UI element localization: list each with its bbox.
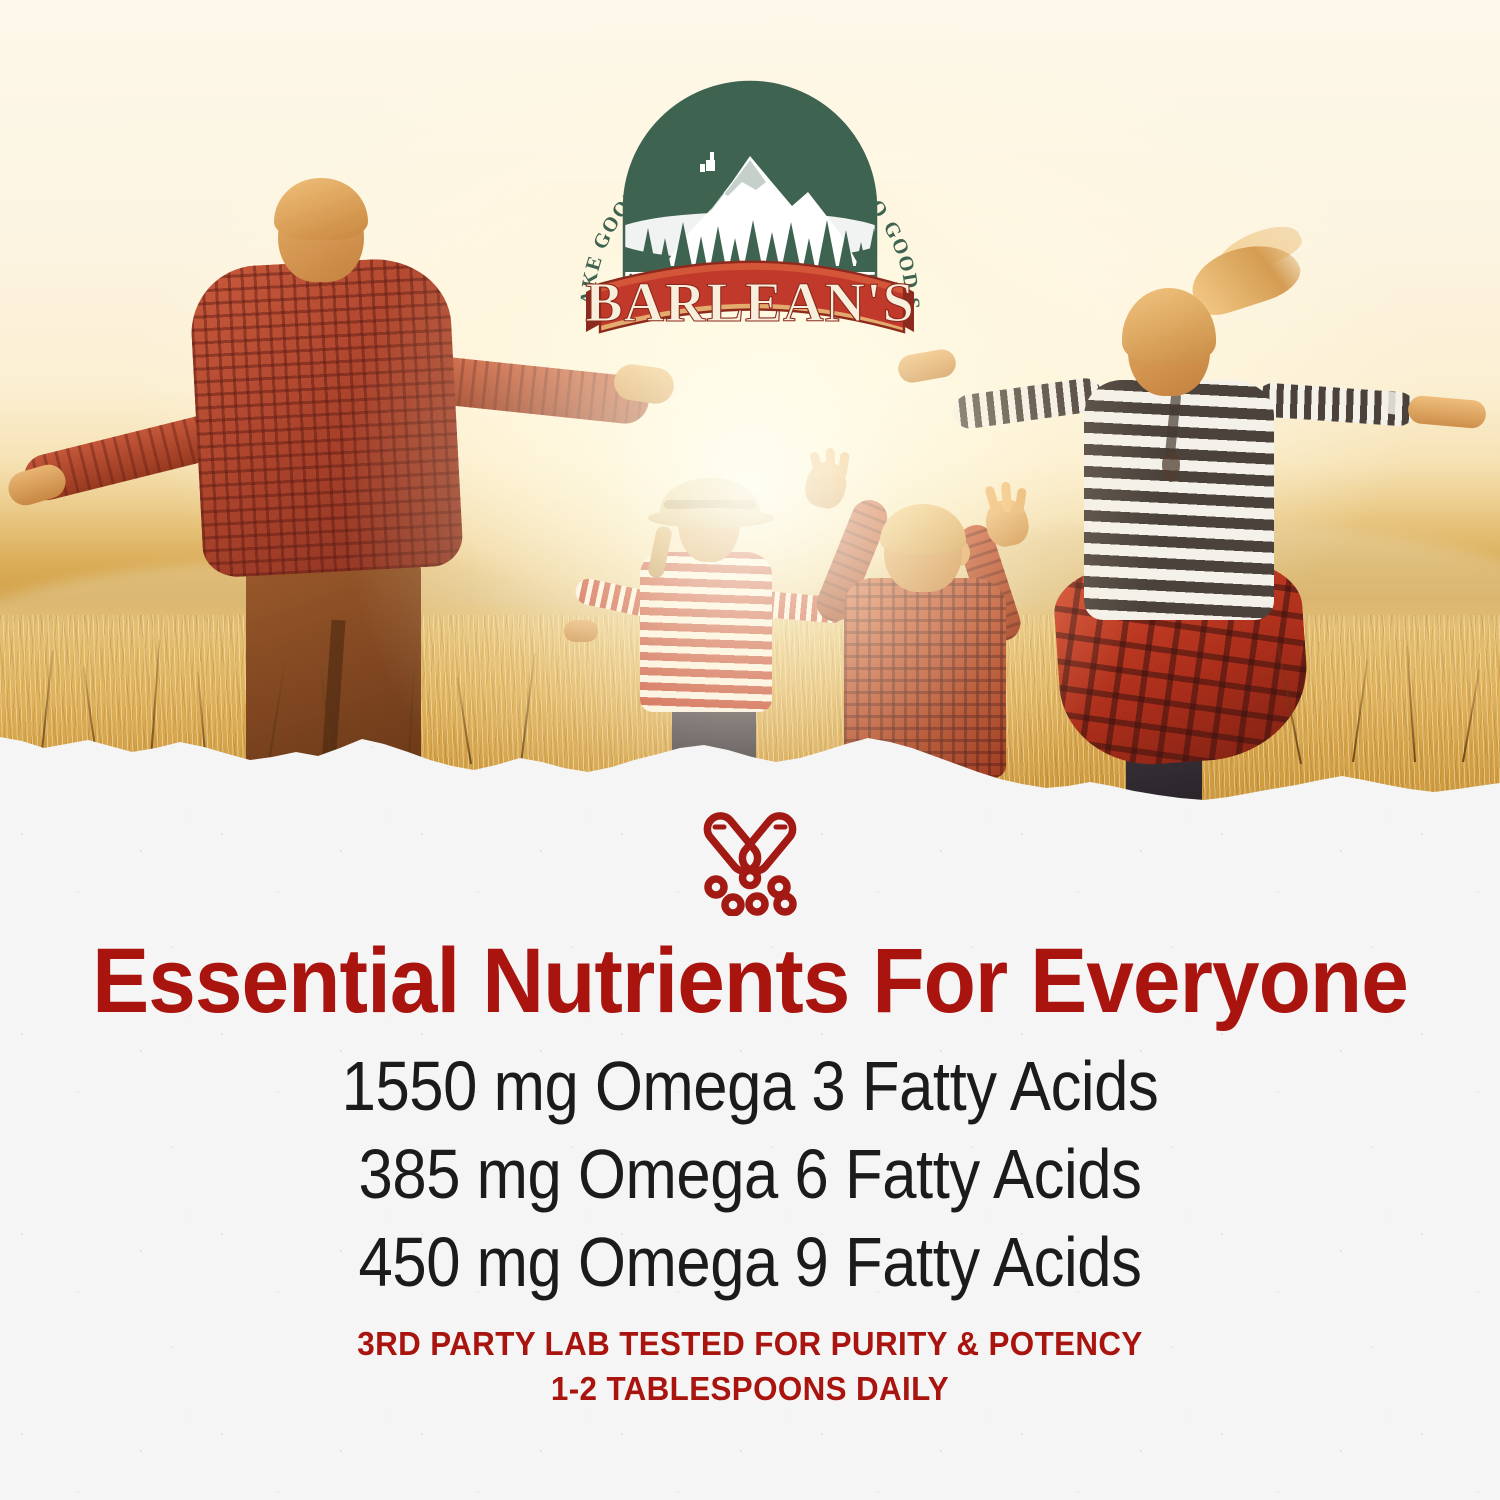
boy-left-finger [837,452,850,479]
girl-hat-brim [648,508,774,528]
woman-right-hand [1407,395,1487,430]
nutrient-fact-omega-9: 450 mg Omega 9 Fatty Acids [90,1218,1410,1306]
footnote-block: 3RD PARTY LAB TESTED FOR PURITY & POTENC… [0,1322,1500,1411]
man-left-hand [4,461,69,510]
page-headline: Essential Nutrients For Everyone [53,935,1448,1027]
logo-brand-name: BARLEAN'S [585,272,915,334]
woman-striped-top [1084,380,1274,620]
woman-left-arm [951,376,1104,431]
info-panel: Essential Nutrients For Everyone 1550 mg… [0,730,1500,1500]
nutrient-fact-omega-6: 385 mg Omega 6 Fatty Acids [90,1130,1410,1218]
footnote-dosage: 1-2 TABLESPOONS DAILY [38,1367,1463,1412]
boy-left-finger [826,448,836,476]
footnote-lab-tested: 3RD PARTY LAB TESTED FOR PURITY & POTENC… [38,1322,1463,1367]
man-hair [274,178,368,240]
brand-logo[interactable]: WE MAKE GOOD STUFF SO YOU CAN DO GOOD ST… [560,40,940,370]
crossed-capsules-with-droplets-icon [0,808,1500,916]
girl-left-hand [564,620,598,642]
nutrient-fact-list: 1550 mg Omega 3 Fatty Acids 385 mg Omega… [0,1042,1500,1307]
boy-right-finger [1001,482,1012,513]
woman-wristwatch [1383,391,1402,415]
nutrient-fact-omega-3: 1550 mg Omega 3 Fatty Acids [90,1042,1410,1130]
product-marketing-image: WE MAKE GOOD STUFF SO YOU CAN DO GOOD ST… [0,0,1500,1500]
boy-hair [880,504,966,554]
man-plaid-shirt [188,255,464,578]
logo-banner: BARLEAN'S [585,262,915,334]
